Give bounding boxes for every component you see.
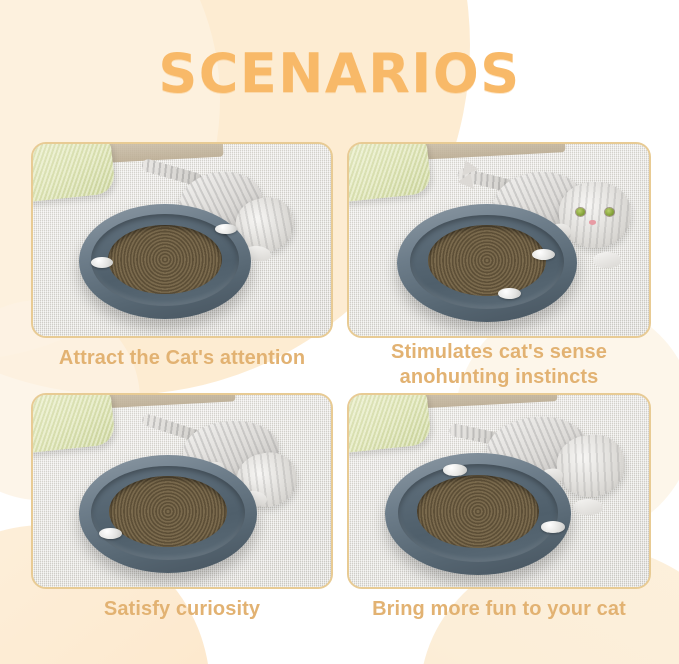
cat-scratcher-toy-2 (397, 204, 577, 322)
scenario-photo-2 (347, 142, 651, 338)
toy-ball (541, 521, 565, 533)
toy-ball (443, 464, 467, 476)
scenario-caption-3: Satisfy curiosity (19, 597, 345, 622)
cat-scratcher-toy-4 (385, 453, 571, 575)
scenario-card-2[interactable]: Stimulates cat's sense anohunting instin… (347, 142, 651, 338)
scenario-card-3[interactable]: Satisfy curiosity (31, 393, 333, 589)
cat-paw (593, 252, 621, 268)
scenario-card-4[interactable]: Bring more fun to your cat (347, 393, 651, 589)
scenario-caption-2: Stimulates cat's sense anohunting instin… (335, 340, 663, 390)
cardboard-scratch-pad (417, 475, 540, 548)
cardboard-scratch-pad (428, 225, 547, 296)
scenario-caption-2-line-2: anohunting instincts (335, 365, 663, 390)
cat-nose (589, 220, 596, 225)
scene-3 (33, 395, 331, 587)
page-title-wrapper: SCENARIOS (0, 44, 679, 108)
scenario-card-1[interactable]: Attract the Cat's attention (31, 142, 333, 338)
scenario-caption-2-line-1: Stimulates cat's sense (335, 340, 663, 365)
cat-eye-right (605, 208, 614, 216)
scene-4 (349, 395, 649, 587)
toy-ball (498, 288, 521, 299)
scene-1 (33, 144, 331, 336)
cat-paw (573, 499, 603, 515)
scene-2 (349, 144, 649, 336)
page-title: SCENARIOS (158, 44, 520, 104)
scenario-photo-1 (31, 142, 333, 338)
scenario-photo-3 (31, 393, 333, 589)
scenario-photo-4 (347, 393, 651, 589)
cat-eye-left (576, 208, 585, 216)
cardboard-scratch-pad (108, 225, 222, 294)
toy-ball (91, 257, 113, 268)
cat-scratcher-toy-3 (79, 455, 257, 573)
cat-scratcher-toy-1 (79, 204, 251, 319)
scenario-caption-4: Bring more fun to your cat (335, 597, 663, 622)
cardboard-scratch-pad (109, 476, 226, 547)
scenario-caption-1: Attract the Cat's attention (19, 346, 345, 371)
